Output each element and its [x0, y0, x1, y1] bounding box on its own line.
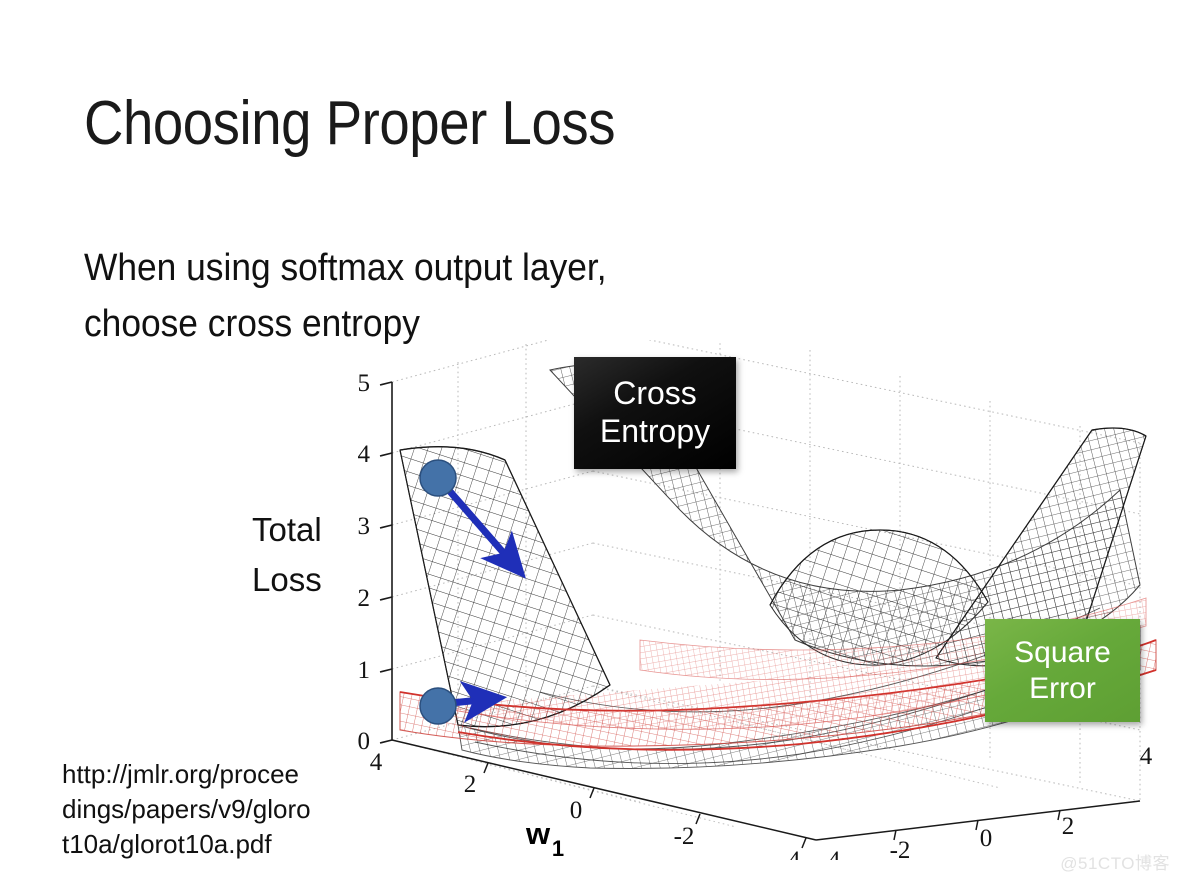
z-tick-4: 4: [358, 441, 371, 468]
y-axis-title: w 2: [965, 850, 1004, 860]
source-url-line-1: http://jmlr.org/procee: [62, 757, 362, 792]
z-tick-5: 5: [358, 370, 371, 397]
z-axis: [380, 382, 392, 743]
y-tick-4: 4: [1140, 743, 1153, 770]
x-axis-label: w: [525, 816, 551, 851]
body-line-1: When using softmax output layer,: [84, 240, 607, 296]
page-title: Choosing Proper Loss: [84, 88, 615, 160]
y-axis-label: w: [965, 850, 991, 860]
y-tick-0: 0: [980, 825, 993, 852]
x-tick-2: 2: [464, 771, 477, 798]
x-tick-0: 0: [570, 797, 583, 824]
y-tick-2: 2: [1062, 813, 1075, 840]
x-tick-m2: -2: [674, 823, 695, 850]
callout-cross-entropy-line-2: Entropy: [600, 413, 710, 451]
z-tick-3: 3: [358, 513, 371, 540]
z-tick-2: 2: [358, 585, 371, 612]
marker-dot-cross-entropy: [420, 460, 456, 496]
x-axis-label-sub: 1: [552, 836, 564, 860]
surface-plot: 5 4 3 2 1 0: [340, 340, 1180, 860]
x-tick-4: 4: [370, 749, 383, 776]
body-text: When using softmax output layer, choose …: [84, 240, 607, 352]
axis-title-line-1: Total: [252, 505, 322, 555]
y-tick-m4: -4: [820, 847, 841, 860]
axis-title-line-2: Loss: [252, 555, 322, 605]
z-tick-1: 1: [358, 657, 371, 684]
callout-square-error: Square Error: [985, 619, 1140, 722]
marker-dot-square-error: [420, 688, 456, 724]
y-axis-tick-labels: -4 -2 0 2 4: [820, 743, 1153, 860]
source-url-line-3: t10a/glorot10a.pdf: [62, 827, 362, 862]
callout-cross-entropy: Cross Entropy: [574, 357, 736, 469]
x-tick-m4: -4: [780, 847, 801, 860]
watermark: @51CTO博客: [1060, 849, 1170, 874]
x-axis-title: w 1: [525, 816, 564, 860]
callout-square-error-line-2: Error: [1029, 671, 1096, 706]
axis-title-total-loss: Total Loss: [252, 505, 322, 605]
z-tick-0: 0: [358, 728, 371, 755]
z-axis-tick-labels: 5 4 3 2 1 0: [358, 370, 371, 755]
callout-cross-entropy-line-1: Cross: [613, 375, 697, 413]
slide-canvas: Choosing Proper Loss When using softmax …: [0, 0, 1184, 888]
y-tick-m2: -2: [890, 837, 911, 860]
y-axis: [816, 801, 1140, 840]
surface-plot-svg: 5 4 3 2 1 0: [340, 340, 1180, 860]
callout-square-error-line-1: Square: [1014, 635, 1111, 670]
source-url-line-2: dings/papers/v9/gloro: [62, 792, 362, 827]
source-url[interactable]: http://jmlr.org/procee dings/papers/v9/g…: [62, 757, 362, 862]
